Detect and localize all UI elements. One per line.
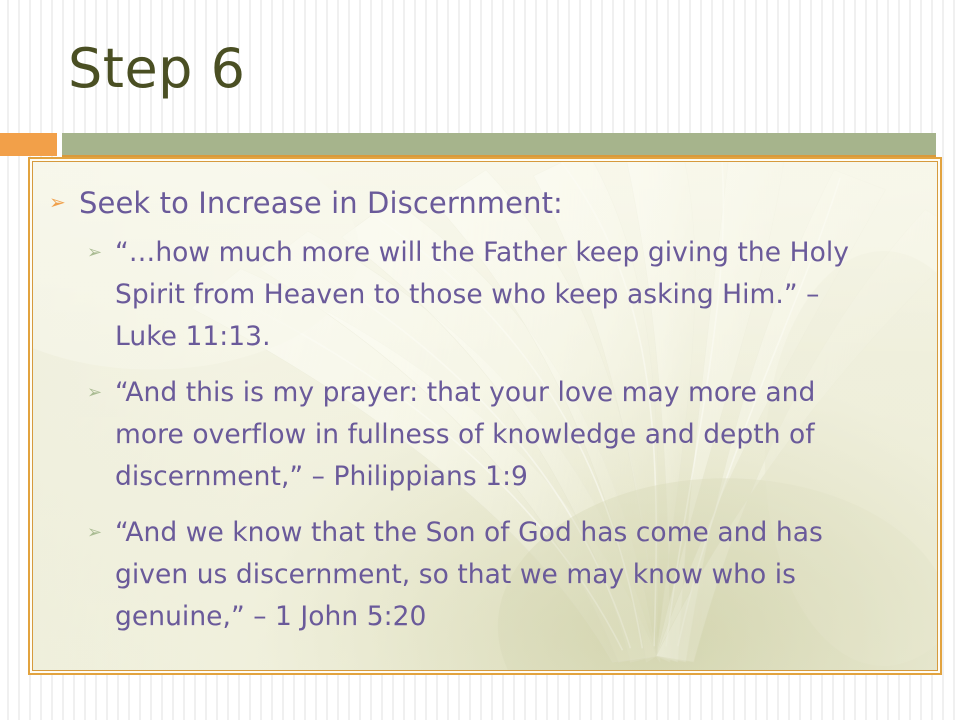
presentation-slide: Step 6: [0, 0, 960, 720]
slide-title-area: Step 6: [0, 34, 960, 126]
bullet-level2-item: ➢ “…how much more will the Father keep g…: [49, 232, 915, 358]
slide-body-copy: ➢ Seek to Increase in Discernment: ➢ “…h…: [33, 162, 937, 670]
scripture-quote-label: “…how much more will the Father keep giv…: [115, 232, 883, 358]
arrow-bullet-icon: ➢: [87, 232, 115, 262]
bullet-level2-item: ➢ “And we know that the Son of God has c…: [49, 512, 915, 638]
scripture-quote-label: “And we know that the Son of God has com…: [115, 512, 883, 638]
header-accent-block: [0, 133, 57, 156]
scripture-quote-label: “And this is my prayer: that your love m…: [115, 372, 883, 498]
header-divider-bar: [62, 133, 936, 155]
content-frame: ➢ Seek to Increase in Discernment: ➢ “…h…: [28, 157, 942, 675]
bullet-heading-label: Seek to Increase in Discernment:: [79, 182, 915, 224]
page-title: Step 6: [68, 34, 245, 104]
bullet-level1-heading: ➢ Seek to Increase in Discernment:: [49, 182, 915, 224]
arrow-bullet-icon: ➢: [87, 512, 115, 542]
arrow-bullet-icon: ➢: [49, 182, 79, 212]
bullet-level2-item: ➢ “And this is my prayer: that your love…: [49, 372, 915, 498]
arrow-bullet-icon: ➢: [87, 372, 115, 402]
content-inner: ➢ Seek to Increase in Discernment: ➢ “…h…: [32, 161, 938, 671]
